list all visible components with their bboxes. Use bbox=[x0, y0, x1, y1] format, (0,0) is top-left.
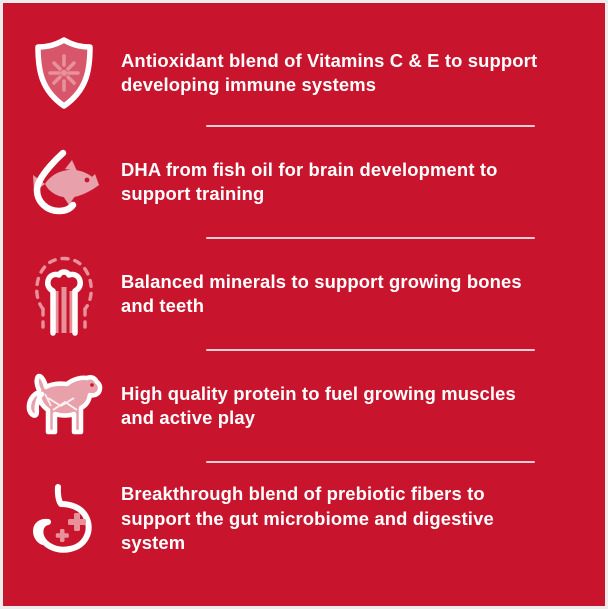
fish-oil-droplet-icon bbox=[25, 144, 103, 220]
benefit-text: Balanced minerals to support growing bon… bbox=[121, 270, 543, 319]
benefit-row: High quality protein to fuel growing mus… bbox=[3, 351, 605, 461]
benefit-text-cell: Balanced minerals to support growing bon… bbox=[121, 270, 605, 319]
benefit-text: Breakthrough blend of prebiotic fibers t… bbox=[121, 482, 543, 555]
bone-stripes bbox=[57, 287, 71, 333]
benefit-row: Balanced minerals to support growing bon… bbox=[3, 239, 605, 349]
dog-icon bbox=[21, 368, 107, 444]
health-cross-small bbox=[56, 529, 69, 542]
benefit-text-cell: High quality protein to fuel growing mus… bbox=[121, 382, 605, 431]
benefits-panel: Antioxidant blend of Vitamins C & E to s… bbox=[0, 0, 608, 609]
benefit-text: High quality protein to fuel growing mus… bbox=[121, 382, 543, 431]
shield-burst-icon bbox=[28, 34, 100, 112]
benefit-icon-cell bbox=[3, 251, 121, 337]
benefit-row: Antioxidant blend of Vitamins C & E to s… bbox=[3, 21, 605, 125]
benefit-row: Breakthrough blend of prebiotic fibers t… bbox=[3, 463, 605, 575]
benefit-row: DHA from fish oil for brain development … bbox=[3, 127, 605, 237]
stomach-icon bbox=[24, 479, 104, 559]
benefit-icon-cell bbox=[3, 144, 121, 220]
benefit-text-cell: DHA from fish oil for brain development … bbox=[121, 158, 605, 207]
benefit-icon-cell bbox=[3, 479, 121, 559]
benefit-text: Antioxidant blend of Vitamins C & E to s… bbox=[121, 49, 543, 98]
benefit-text-cell: Antioxidant blend of Vitamins C & E to s… bbox=[121, 49, 605, 98]
benefit-icon-cell bbox=[3, 34, 121, 112]
benefits-list: Antioxidant blend of Vitamins C & E to s… bbox=[3, 3, 605, 606]
benefit-text-cell: Breakthrough blend of prebiotic fibers t… bbox=[121, 482, 605, 555]
fish-shape bbox=[33, 160, 99, 205]
bone-icon bbox=[29, 251, 99, 337]
benefit-icon-cell bbox=[3, 368, 121, 444]
benefit-text: DHA from fish oil for brain development … bbox=[121, 158, 543, 207]
